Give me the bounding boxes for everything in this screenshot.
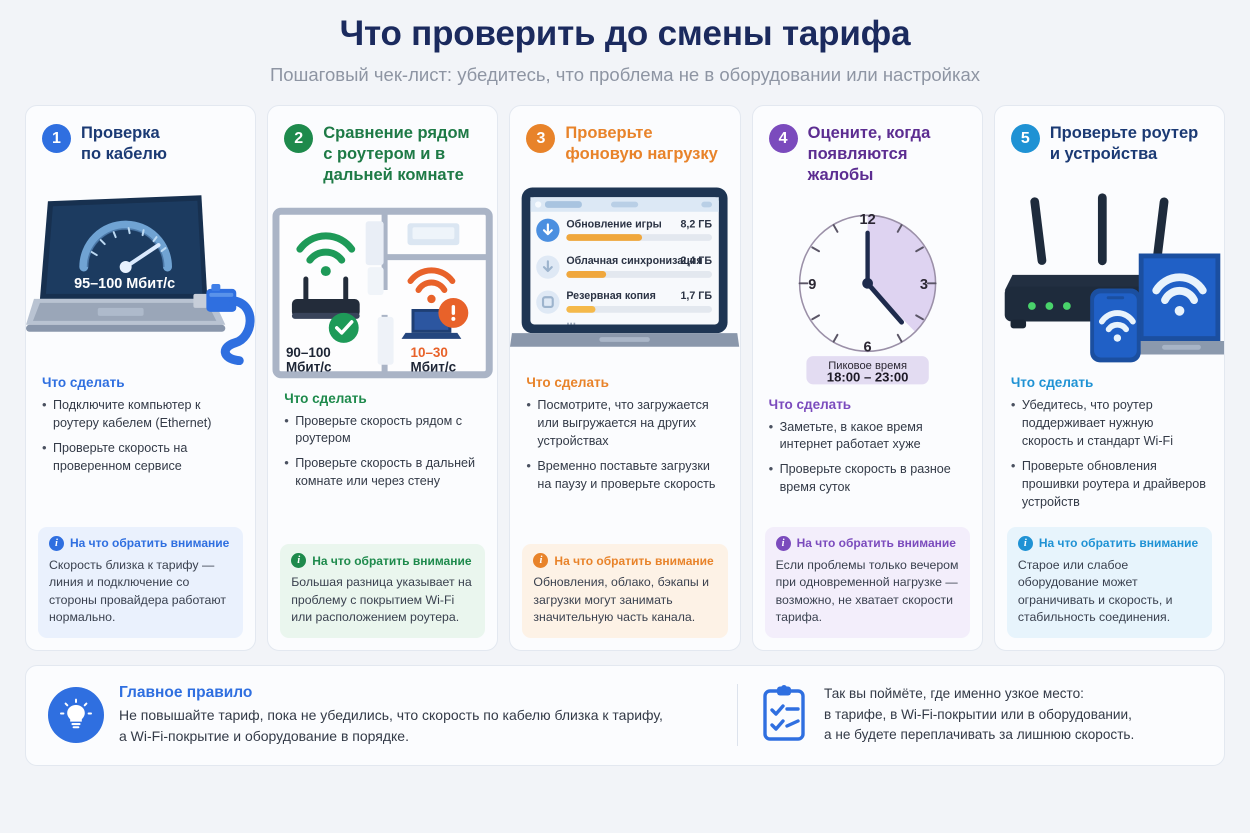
todo-heading-1: Что сделать <box>42 375 239 390</box>
speed-far-line1: 10–30 <box>411 344 448 359</box>
todo-item: Проверьте скорость в разное время суток <box>769 461 966 497</box>
todo-item: Проверьте скорость рядом с роутером <box>284 413 481 449</box>
card-4-body: Что сделать Заметьте, в какое время инте… <box>753 387 982 519</box>
download-name-1: Обновление игры <box>567 219 662 231</box>
card-2-body: Что сделать Проверьте скорость рядом с р… <box>268 381 497 537</box>
card-4-title: Оцените, когда появляются жалобы <box>808 123 966 186</box>
download-name-3: Резервная копия <box>567 291 657 303</box>
note-text-1: Скорость близка к тарифу — линия и подкл… <box>49 557 232 627</box>
note-text-5: Старое или слабое оборудование может огр… <box>1018 557 1201 627</box>
card-grid: 1 Проверка по кабелю <box>25 105 1225 650</box>
card-5-body: Что сделать Убедитесь, что роутер поддер… <box>995 365 1224 518</box>
step-number-badge-5: 5 <box>1011 124 1040 153</box>
footer-rule-block: Главное правило Не повышайте тариф, пока… <box>48 684 733 746</box>
note-title-3: На что обратить внимание <box>554 554 713 568</box>
info-icon: i <box>291 553 306 568</box>
todo-heading-4: Что сделать <box>769 397 966 412</box>
note-title-5: На что обратить внимание <box>1039 536 1198 550</box>
illustration-laptop-ethernet: 95–100 Мбит/с <box>26 175 255 365</box>
speed-near-line2: Мбит/с <box>286 359 332 374</box>
clock-mark-6: 6 <box>863 339 871 355</box>
footer-rule-text-block: Главное правило Не повышайте тариф, пока… <box>119 684 663 746</box>
step-number-badge-3: 3 <box>526 124 555 153</box>
footer-summary-block: Так вы поймёте, где именно узкое место: … <box>760 684 1134 747</box>
todo-list-4: Заметьте, в какое время интернет работае… <box>769 419 966 498</box>
card-3-header: 3 Проверьте фоновую нагрузку <box>510 106 739 171</box>
note-header-5: i На что обратить внимание <box>1018 536 1201 551</box>
page-header: Что проверить до смены тарифа Пошаговый … <box>25 0 1225 86</box>
note-box-1: i На что обратить внимание Скорость близ… <box>38 527 243 638</box>
info-icon: i <box>533 553 548 568</box>
card-step-5: 5 Проверьте роутер и устройства <box>994 105 1225 650</box>
todo-heading-2: Что сделать <box>284 391 481 406</box>
clock-mark-3: 3 <box>919 277 927 293</box>
todo-item: Посмотрите, что загружается или выгружае… <box>526 397 723 451</box>
note-title-2: На что обратить внимание <box>312 554 471 568</box>
card-step-1: 1 Проверка по кабелю <box>25 105 256 650</box>
speed-near-line1: 90–100 <box>286 344 331 359</box>
note-header-4: i На что обратить внимание <box>776 536 959 551</box>
todo-item: Проверьте обновления прошивки роутера и … <box>1011 458 1208 512</box>
footer-divider <box>737 684 738 746</box>
download-more: ... <box>567 315 577 328</box>
note-header-2: i На что обратить внимание <box>291 553 474 568</box>
todo-item: Временно поставьте загрузки на паузу и п… <box>526 458 723 494</box>
lightbulb-icon <box>48 687 104 743</box>
note-box-4: i На что обратить внимание Если проблемы… <box>765 527 970 638</box>
card-3-title: Проверьте фоновую нагрузку <box>565 123 717 165</box>
note-text-4: Если проблемы только вечером при одновре… <box>776 557 959 627</box>
note-box-3: i На что обратить внимание Обновления, о… <box>522 544 727 637</box>
note-title-1: На что обратить внимание <box>70 536 229 550</box>
card-1-body: Что сделать Подключите компьютер к роуте… <box>26 365 255 518</box>
illustration-clock: 12 3 6 9 Пиковое время 18:00 – 23:00 <box>753 201 982 387</box>
peak-value: 18:00 – 23:00 <box>826 369 908 384</box>
todo-item: Проверьте скорость в дальней комнате или… <box>284 455 481 491</box>
illustration-download-list: Обновление игры 8,2 ГБ Облачная синхрони… <box>510 179 739 365</box>
card-step-4: 4 Оцените, когда появляются жалобы <box>752 105 983 650</box>
todo-item: Подключите компьютер к роутеру кабелем (… <box>42 397 239 433</box>
page-title: Что проверить до смены тарифа <box>25 14 1225 54</box>
card-5-title: Проверьте роутер и устройства <box>1050 123 1198 165</box>
illustration-floorplan: 90–100 Мбит/с 10–30 <box>268 205 497 381</box>
note-box-2: i На что обратить внимание Большая разни… <box>280 544 485 637</box>
info-icon: i <box>1018 536 1033 551</box>
clock-mark-9: 9 <box>808 277 816 293</box>
illustration-router-devices <box>995 179 1224 365</box>
step-number-badge-4: 4 <box>769 124 798 153</box>
note-header-1: i На что обратить внимание <box>49 536 232 551</box>
info-icon: i <box>49 536 64 551</box>
todo-heading-5: Что сделать <box>1011 375 1208 390</box>
note-box-5: i На что обратить внимание Старое или сл… <box>1007 527 1212 638</box>
footer-summary-text: Так вы поймёте, где именно узкое место: … <box>824 684 1134 746</box>
note-text-3: Обновления, облако, бэкапы и загрузки мо… <box>533 574 716 626</box>
infographic-page: Что проверить до смены тарифа Пошаговый … <box>0 0 1250 833</box>
card-4-header: 4 Оцените, когда появляются жалобы <box>753 106 982 192</box>
download-size-2: 2,4 ГБ <box>681 256 713 268</box>
todo-heading-3: Что сделать <box>526 375 723 390</box>
info-icon: i <box>776 536 791 551</box>
footer-summary: Главное правило Не повышайте тариф, пока… <box>25 665 1225 766</box>
todo-list-3: Посмотрите, что загружается или выгружае… <box>526 397 723 493</box>
todo-item: Заметьте, в какое время интернет работае… <box>769 419 966 455</box>
footer-rule-title: Главное правило <box>119 684 663 702</box>
todo-item: Убедитесь, что роутер поддерживает нужну… <box>1011 397 1208 451</box>
card-5-header: 5 Проверьте роутер и устройства <box>995 106 1224 171</box>
page-subtitle: Пошаговый чек-лист: убедитесь, что пробл… <box>25 64 1225 86</box>
speed-value-1: 95–100 Мбит/с <box>74 276 175 292</box>
step-number-badge-2: 2 <box>284 124 313 153</box>
note-header-3: i На что обратить внимание <box>533 553 716 568</box>
note-title-4: На что обратить внимание <box>797 536 956 550</box>
clock-mark-12: 12 <box>859 212 875 228</box>
todo-item: Проверьте скорость на проверенном сервис… <box>42 440 239 476</box>
todo-list-5: Убедитесь, что роутер поддерживает нужну… <box>1011 397 1208 511</box>
card-1-header: 1 Проверка по кабелю <box>26 106 255 171</box>
note-text-2: Большая разница указывает на проблему с … <box>291 574 474 626</box>
card-3-body: Что сделать Посмотрите, что загружается … <box>510 365 739 536</box>
card-1-title: Проверка по кабелю <box>81 123 167 165</box>
clipboard-check-icon <box>760 684 808 747</box>
step-number-badge-1: 1 <box>42 124 71 153</box>
todo-list-1: Подключите компьютер к роутеру кабелем (… <box>42 397 239 476</box>
speed-far-line2: Мбит/с <box>411 359 457 374</box>
download-size-3: 1,7 ГБ <box>681 291 713 303</box>
card-2-title: Сравнение рядом с роутером и в дальней к… <box>323 123 469 186</box>
card-step-3: 3 Проверьте фоновую нагрузку <box>509 105 740 650</box>
todo-list-2: Проверьте скорость рядом с роутером Пров… <box>284 413 481 492</box>
card-2-header: 2 Сравнение рядом с роутером и в дальней… <box>268 106 497 192</box>
card-step-2: 2 Сравнение рядом с роутером и в дальней… <box>267 105 498 650</box>
download-size-1: 8,2 ГБ <box>681 219 713 231</box>
footer-rule-text: Не повышайте тариф, пока не убедились, ч… <box>119 705 663 746</box>
